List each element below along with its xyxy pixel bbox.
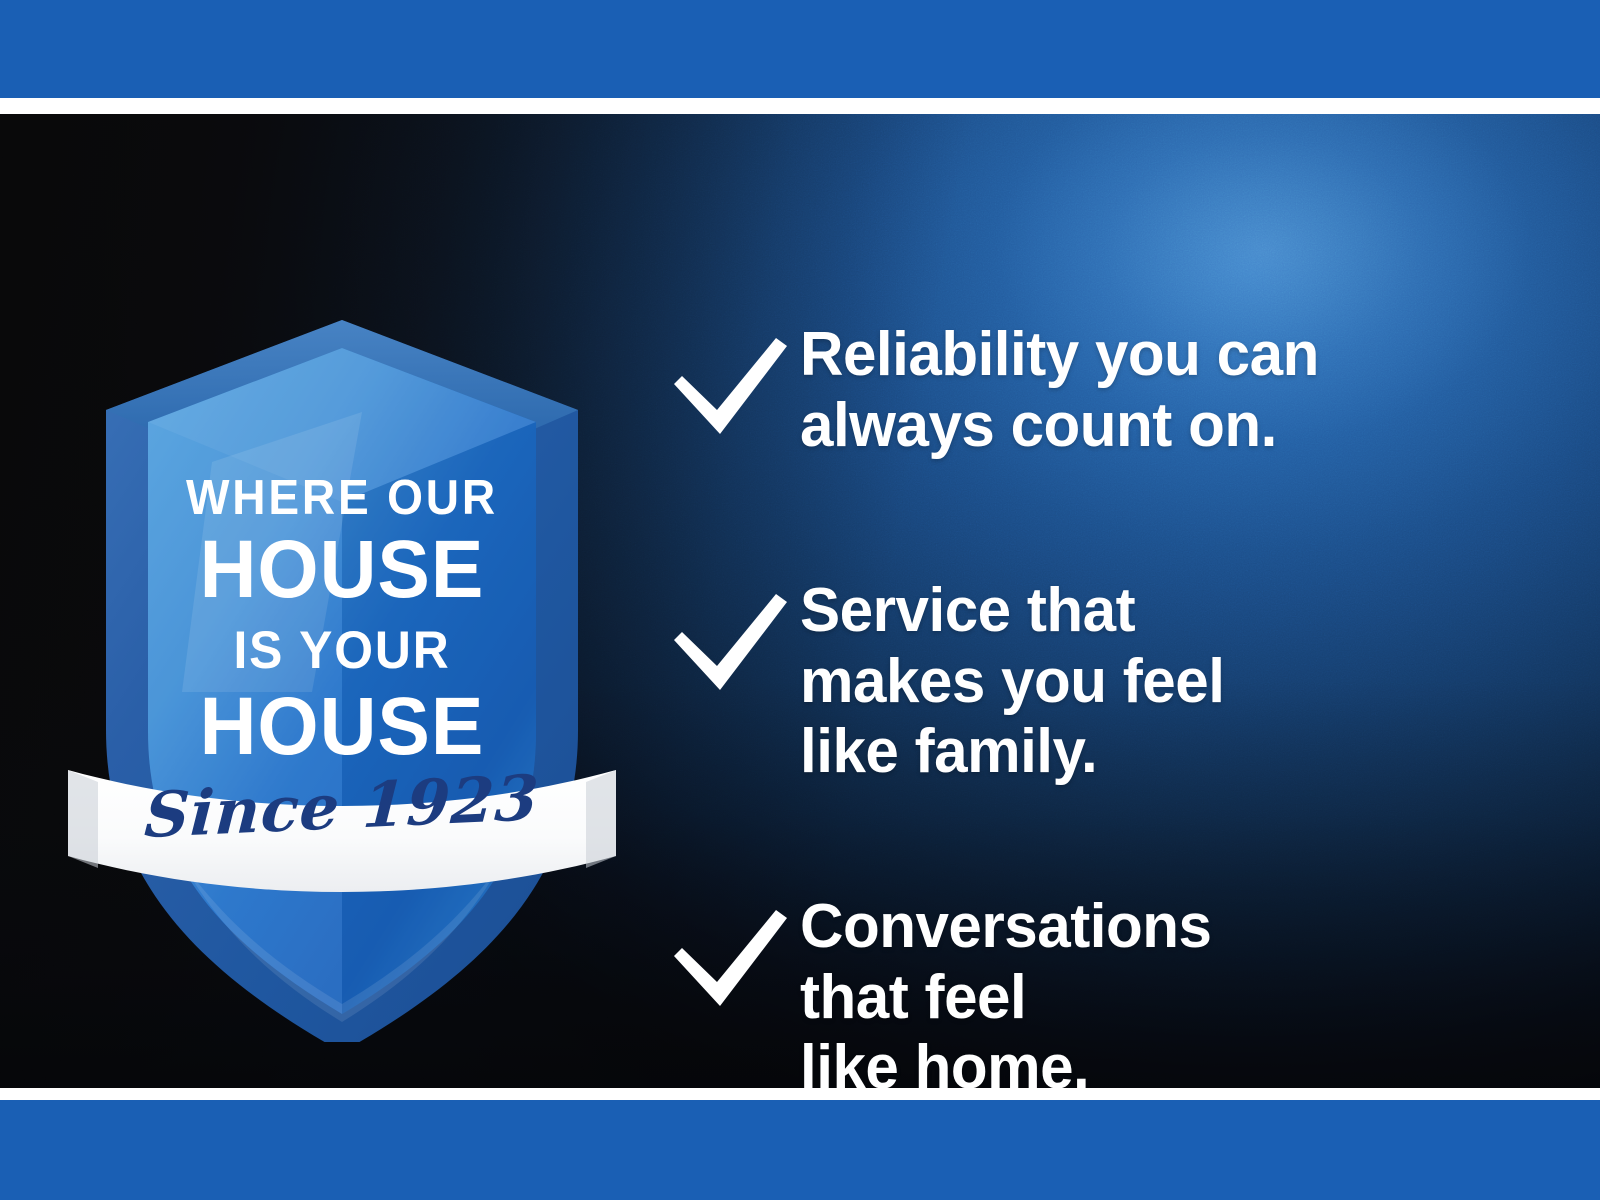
list-item-label: Conversations that feel like home. (800, 892, 1518, 1088)
top-brand-bar (0, 0, 1600, 98)
list-item-label: Service that makes you feel like family. (800, 576, 1518, 788)
main-panel: Where Our House Is Your House Since 1923… (0, 114, 1600, 1088)
promo-graphic: Where Our House Is Your House Since 1923… (0, 0, 1600, 1200)
checkmark-icon (660, 326, 800, 446)
list-item: Conversations that feel like home. (660, 892, 1540, 1088)
list-item-label: Reliability you can always count on. (800, 320, 1518, 461)
checkmark-icon (660, 898, 800, 1018)
checkmark-icon (660, 582, 800, 702)
bottom-brand-bar (0, 1100, 1600, 1200)
shield-logo: Where Our House Is Your House Since 1923 (62, 262, 622, 1042)
list-item: Reliability you can always count on. (660, 320, 1540, 461)
list-item: Service that makes you feel like family. (660, 576, 1540, 788)
